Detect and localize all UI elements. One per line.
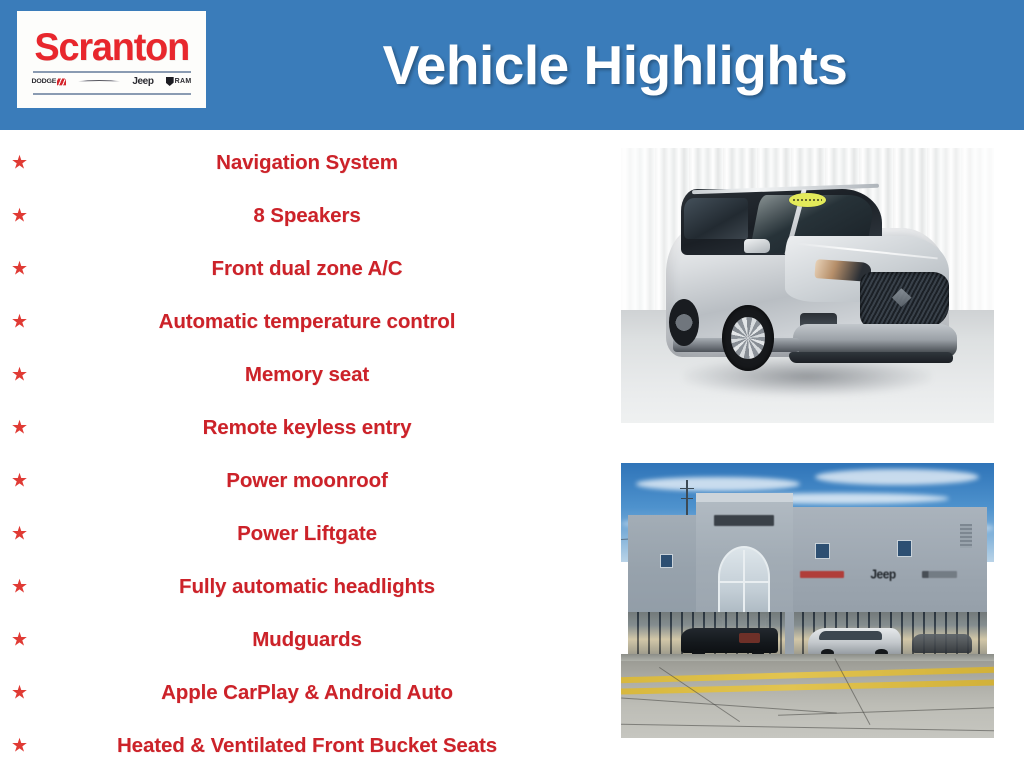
vehicle-features-list: ★ Navigation System ★ 8 Speakers ★ Front… bbox=[0, 130, 608, 768]
dealership-photo: Jeep bbox=[621, 463, 994, 738]
building-window bbox=[660, 554, 673, 568]
dealer-logo[interactable]: Scranton DODGE Jeep RAM bbox=[17, 11, 206, 108]
list-item: ★ Mudguards bbox=[0, 613, 608, 666]
vehicle-shadow bbox=[684, 357, 930, 396]
vehicle-side-mirror bbox=[744, 239, 770, 253]
list-item: ★ Front dual zone A/C bbox=[0, 242, 608, 295]
feature-label: Apple CarPlay & Android Auto bbox=[0, 681, 608, 705]
dealership-tower-cap bbox=[696, 493, 793, 501]
feature-label: Fully automatic headlights bbox=[0, 575, 608, 599]
ram-badge-icon bbox=[166, 77, 174, 86]
brand-ram: RAM bbox=[166, 77, 192, 86]
cloud bbox=[636, 477, 800, 491]
list-item: ★ Navigation System bbox=[0, 136, 608, 189]
feature-label: 8 Speakers bbox=[0, 204, 608, 228]
list-item: ★ Power moonroof bbox=[0, 454, 608, 507]
list-item: ★ Fully automatic headlights bbox=[0, 560, 608, 613]
building-window bbox=[815, 543, 830, 560]
feature-label: Mudguards bbox=[0, 628, 608, 652]
star-icon: ★ bbox=[11, 630, 28, 649]
star-icon: ★ bbox=[11, 683, 28, 702]
vehicle-grille bbox=[860, 272, 950, 327]
logo-divider-bottom bbox=[33, 93, 191, 95]
building-brand-signage: Jeep bbox=[800, 568, 957, 582]
vehicle-photo bbox=[621, 148, 994, 423]
feature-label: Heated & Ventilated Front Bucket Seats bbox=[0, 734, 608, 758]
sign-jeep-label: Jeep bbox=[870, 568, 895, 581]
brand-chrysler bbox=[78, 78, 120, 86]
logo-brand-strip: DODGE Jeep RAM bbox=[32, 75, 192, 88]
star-icon: ★ bbox=[11, 736, 28, 755]
list-item: ★ Memory seat bbox=[0, 348, 608, 401]
suv-window bbox=[819, 631, 882, 641]
feature-label: Automatic temperature control bbox=[0, 310, 608, 334]
feature-label: Front dual zone A/C bbox=[0, 257, 608, 281]
list-item: ★ Remote keyless entry bbox=[0, 401, 608, 454]
star-icon: ★ bbox=[11, 418, 28, 437]
parked-car-right bbox=[912, 634, 972, 653]
list-item: ★ Automatic temperature control bbox=[0, 295, 608, 348]
star-icon: ★ bbox=[11, 259, 28, 278]
vehicle-side-window bbox=[684, 198, 747, 239]
sign-dodge-icon bbox=[800, 571, 844, 578]
feature-label: Power Liftgate bbox=[0, 522, 608, 546]
list-item: ★ Apple CarPlay & Android Auto bbox=[0, 666, 608, 719]
dodge-slash-icon bbox=[57, 78, 66, 85]
feature-label: Remote keyless entry bbox=[0, 416, 608, 440]
list-item: ★ Heated & Ventilated Front Bucket Seats bbox=[0, 719, 608, 768]
star-icon: ★ bbox=[11, 524, 28, 543]
star-icon: ★ bbox=[11, 577, 28, 596]
showroom-mullion bbox=[785, 612, 794, 656]
feature-label: Memory seat bbox=[0, 363, 608, 387]
brand-ram-label: RAM bbox=[175, 77, 192, 86]
chrysler-wing-icon bbox=[78, 80, 120, 84]
brand-dodge-label: DODGE bbox=[32, 78, 57, 86]
brand-dodge: DODGE bbox=[32, 78, 67, 86]
star-icon: ★ bbox=[11, 471, 28, 490]
feature-label: Power moonroof bbox=[0, 469, 608, 493]
page-title: Vehicle Highlights bbox=[206, 0, 1024, 130]
logo-divider-top bbox=[33, 71, 191, 73]
star-icon: ★ bbox=[11, 312, 28, 331]
arched-window-transom bbox=[718, 581, 770, 583]
dealership-name-sign bbox=[714, 515, 774, 526]
dealer-logo-name: Scranton bbox=[34, 28, 189, 68]
feature-label: Navigation System bbox=[0, 151, 608, 175]
sign-ram-icon bbox=[922, 571, 956, 578]
brand-jeep: Jeep bbox=[132, 77, 153, 86]
list-item: ★ Power Liftgate bbox=[0, 507, 608, 560]
cloud bbox=[815, 469, 979, 486]
star-icon: ★ bbox=[11, 365, 28, 384]
vehicle-front-lip bbox=[789, 352, 953, 363]
star-icon: ★ bbox=[11, 153, 28, 172]
building-window bbox=[897, 540, 912, 557]
list-item: ★ 8 Speakers bbox=[0, 189, 608, 242]
page-header: Scranton DODGE Jeep RAM Vehicle Highligh… bbox=[0, 0, 1024, 130]
vehicle-front-wheel bbox=[722, 305, 774, 371]
building-louver bbox=[960, 524, 971, 549]
star-icon: ★ bbox=[11, 206, 28, 225]
